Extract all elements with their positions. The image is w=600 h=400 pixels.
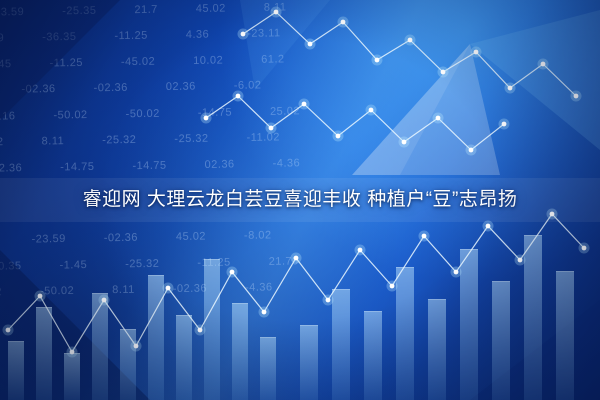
chart-node (422, 234, 427, 239)
chart-node (230, 270, 235, 275)
chart-node (204, 116, 209, 121)
chart-node (390, 284, 395, 289)
chart-node (454, 270, 459, 275)
chart-node (469, 148, 474, 153)
chart-node (541, 62, 546, 67)
chart-polyline (206, 96, 504, 150)
chart-node (508, 86, 513, 91)
chart-node (375, 58, 380, 63)
chart-node (6, 328, 11, 333)
chart-node (486, 224, 491, 229)
chart-node (341, 20, 346, 25)
chart-polyline (243, 12, 576, 96)
chart-node (198, 328, 203, 333)
chart-node (166, 286, 171, 291)
chart-node (582, 246, 587, 251)
chart-node (441, 70, 446, 75)
chart-node (308, 42, 313, 47)
chart-node (241, 32, 246, 37)
chart-node (102, 298, 107, 303)
chart-node (38, 294, 43, 299)
chart-node (326, 298, 331, 303)
chart-node (70, 350, 75, 355)
chart-node (502, 122, 507, 127)
headline-band: 睿迎网 大理云龙白芸豆喜迎丰收 种植户“豆”志昂扬 (0, 178, 600, 222)
chart-node (294, 256, 299, 261)
chart-polyline (8, 214, 584, 352)
chart-node (274, 10, 279, 15)
chart-node (518, 258, 523, 263)
chart-node (236, 94, 241, 99)
chart-node (369, 108, 374, 113)
chart-node (262, 310, 267, 315)
banner-image: -23.59-25.3521.745.028.11-04.29-36.35-11… (0, 0, 600, 400)
chart-node (302, 102, 307, 107)
page-title: 睿迎网 大理云龙白芸豆喜迎丰收 种植户“豆”志昂扬 (0, 178, 600, 222)
chart-node (358, 248, 363, 253)
chart-node (269, 126, 274, 131)
chart-node (574, 94, 579, 99)
chart-node (402, 140, 407, 145)
chart-node (436, 116, 441, 121)
chart-node (134, 344, 139, 349)
chart-node (408, 38, 413, 43)
chart-node (474, 50, 479, 55)
chart-node (336, 134, 341, 139)
